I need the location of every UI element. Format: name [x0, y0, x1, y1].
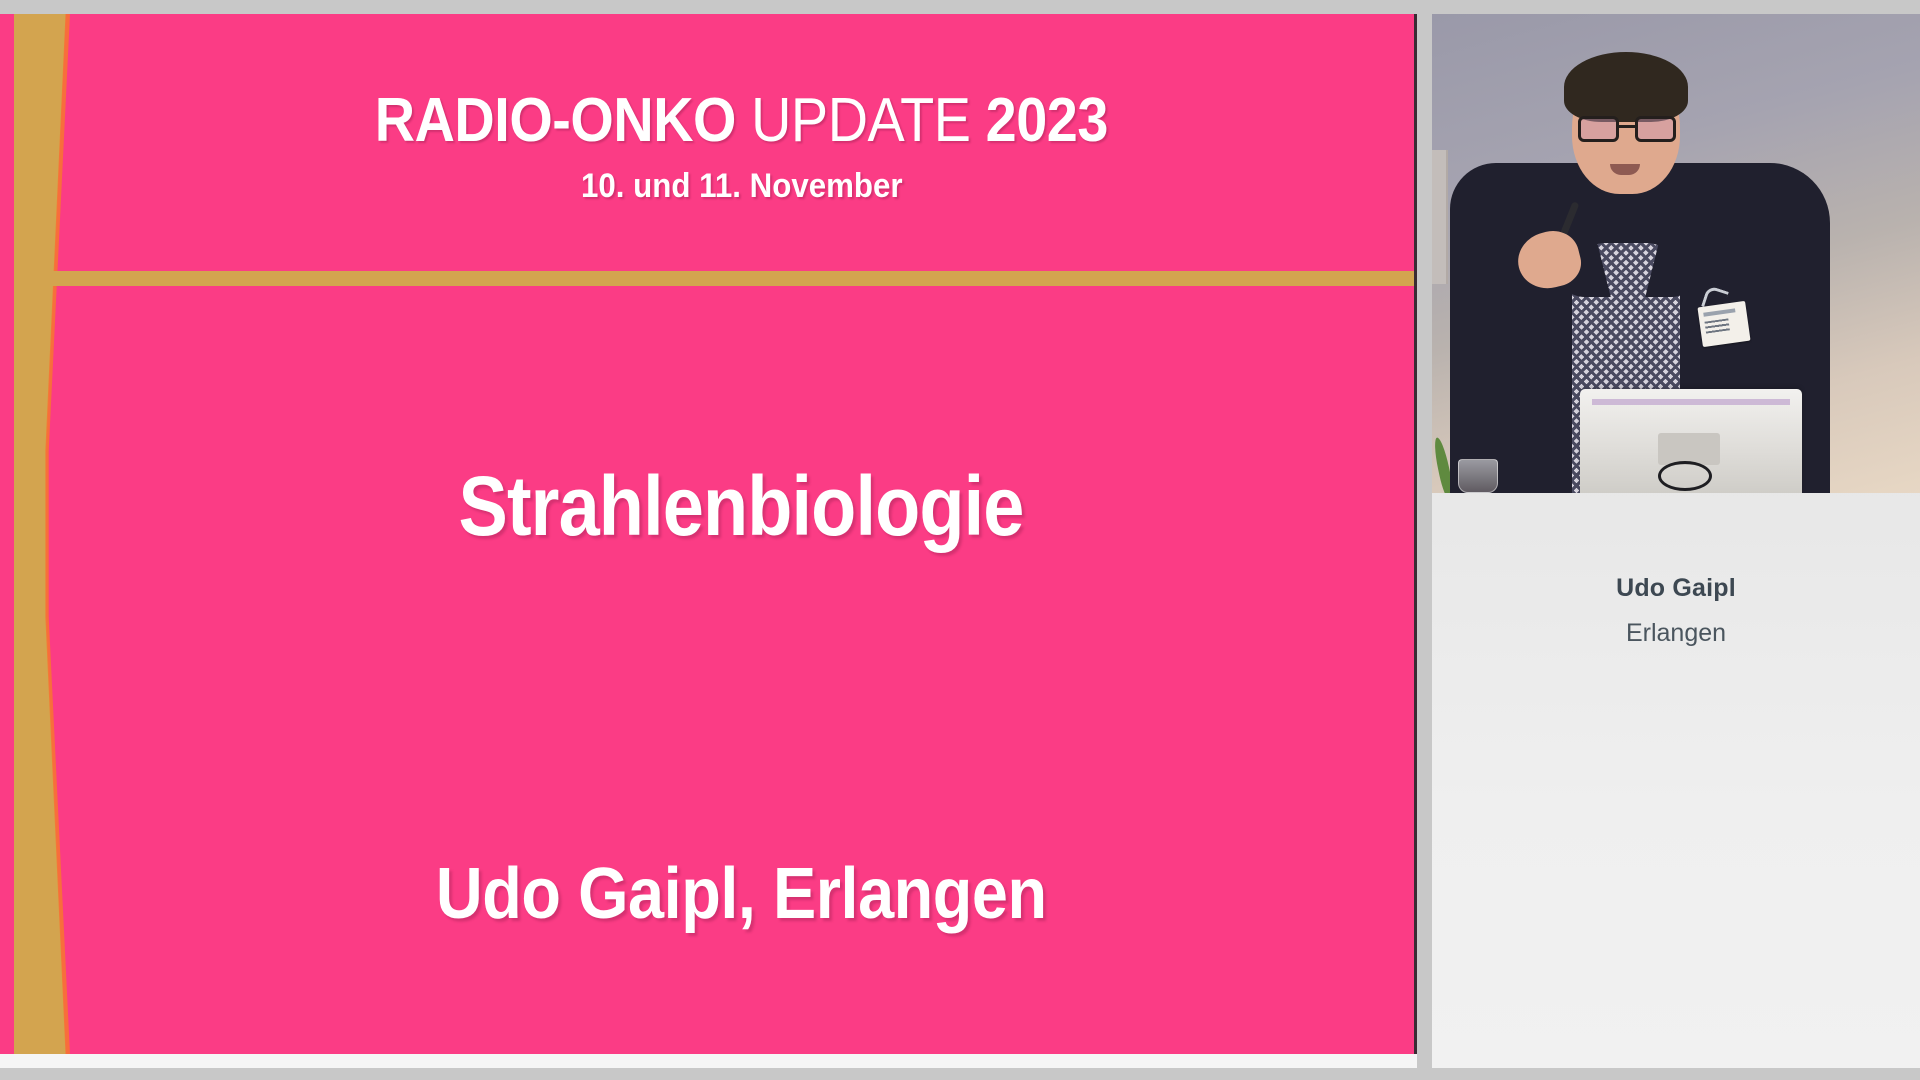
presentation-viewer: RADIO-ONKO UPDATE 2023 10. und 11. Novem… [0, 0, 1920, 1080]
slide-title-space2 [971, 86, 986, 155]
speaker-city: Erlangen [1432, 619, 1920, 648]
glasses-bridge [1619, 125, 1635, 128]
sidebar: Udo Gaipl Erlangen Vorsitz David Krug, K… [1432, 14, 1920, 1068]
name-badge [1697, 301, 1750, 347]
speaker-name: Udo Gaipl [1432, 574, 1920, 603]
slide-title: RADIO-ONKO UPDATE 2023 [375, 88, 1108, 153]
slide-subtitle-dates: 10. und 11. November [581, 167, 903, 206]
slide-topic-heading: Strahlenbiologie [459, 458, 1024, 555]
slide-speaker-line: Udo Gaipl, Erlangen [436, 853, 1047, 935]
slide-canvas: RADIO-ONKO UPDATE 2023 10. und 11. Novem… [0, 14, 1417, 1054]
glasses-lens-right [1635, 116, 1676, 142]
glasses-lens-left [1578, 116, 1619, 142]
glasses-icon [1578, 116, 1676, 142]
slide-title-update-word: UPDATE [751, 86, 971, 155]
gold-left-band-decoration [14, 14, 66, 1054]
gold-horizontal-divider [30, 271, 1417, 286]
water-glass [1458, 459, 1498, 493]
speaker-info-block: Udo Gaipl Erlangen [1432, 574, 1920, 648]
slide-title-brand: RADIO-ONKO [375, 86, 736, 155]
speaker-hair [1564, 52, 1688, 122]
speaker-video-feed[interactable] [1432, 14, 1920, 493]
slide-pane[interactable]: RADIO-ONKO UPDATE 2023 10. und 11. Novem… [0, 14, 1417, 1068]
slide-body-block: Strahlenbiologie Udo Gaipl, Erlangen [66, 286, 1417, 1054]
video-wall-panel [1432, 150, 1448, 284]
slide-header-block: RADIO-ONKO UPDATE 2023 10. und 11. Novem… [66, 40, 1417, 271]
slide-title-update [736, 86, 751, 155]
slide-title-year: 2023 [986, 86, 1108, 155]
cable-loop [1658, 461, 1712, 491]
